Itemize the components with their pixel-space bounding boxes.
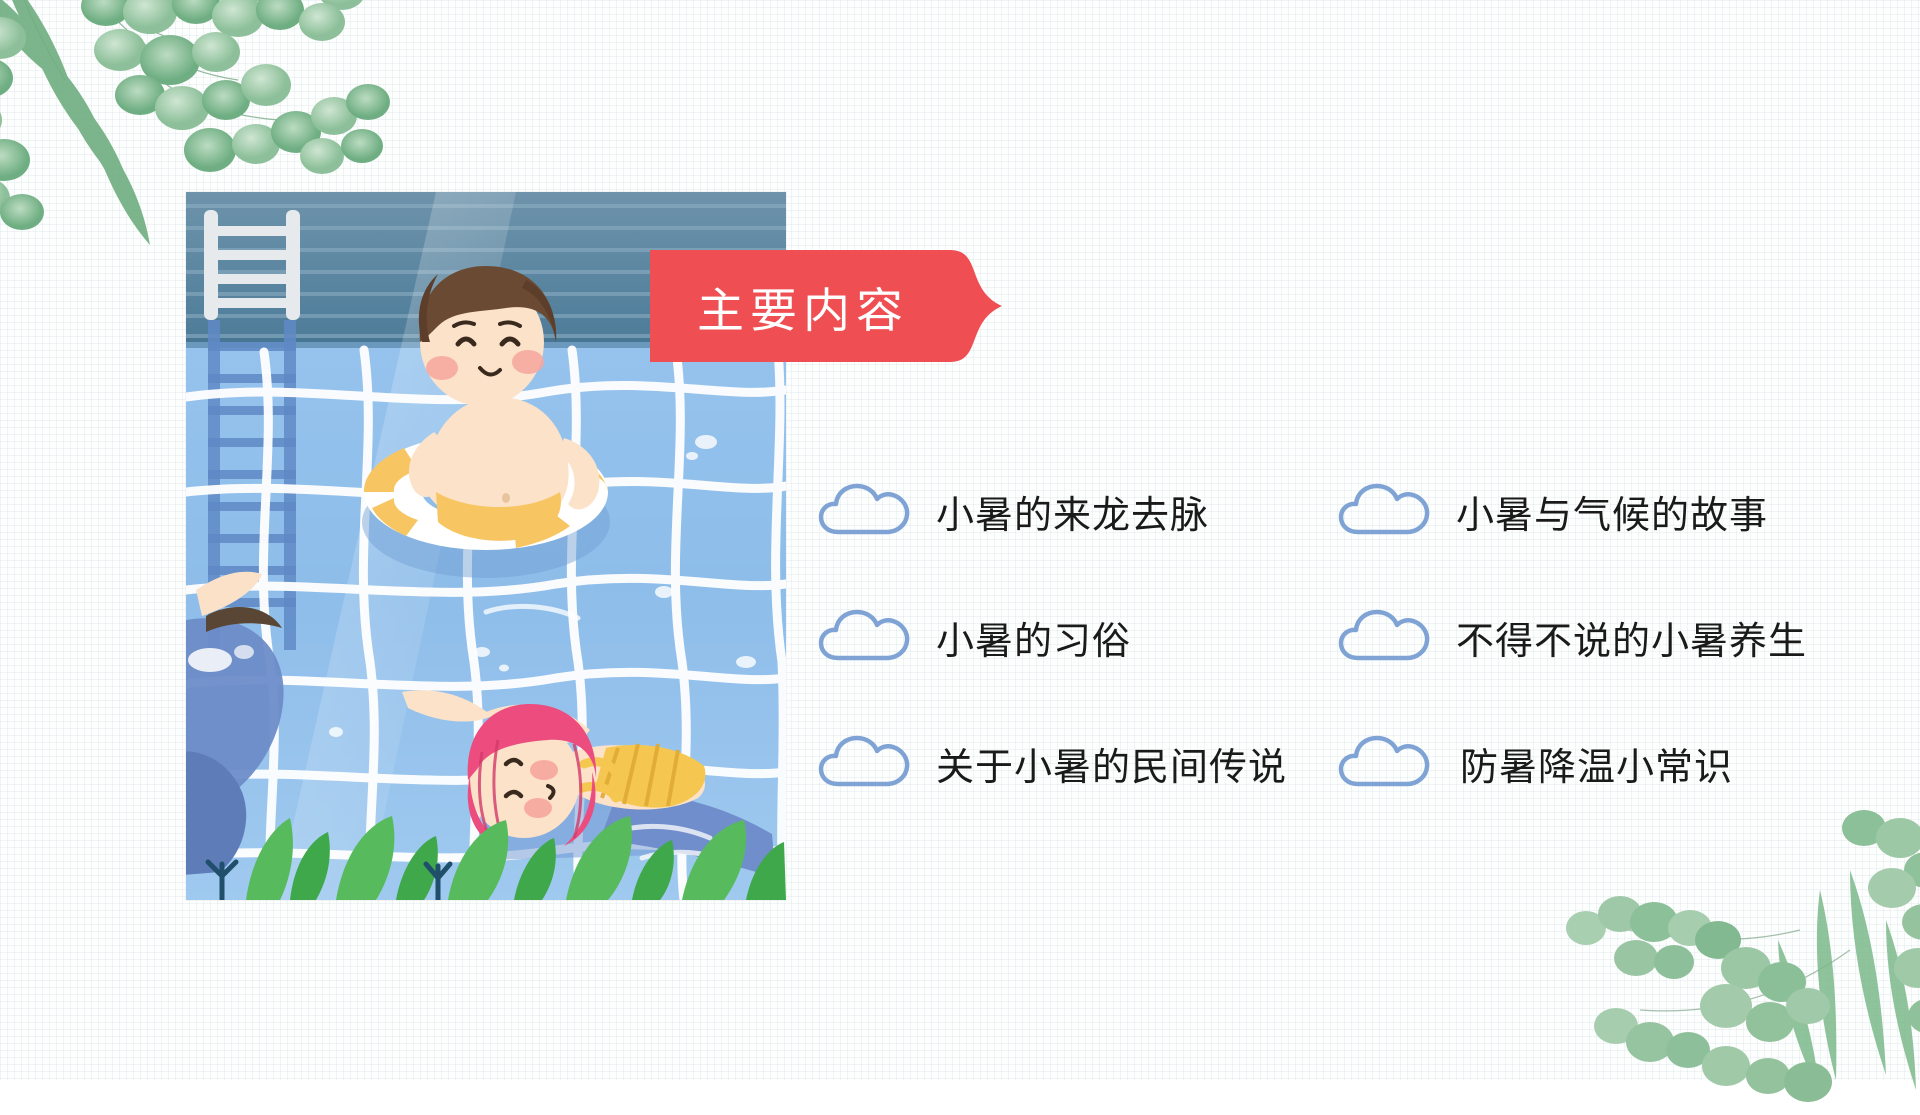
slide-canvas: 主要内容 小暑的来龙去脉 小暑与气候的故事 bbox=[0, 0, 1920, 1080]
list-item-label: 小暑与气候的故事 bbox=[1456, 484, 1768, 539]
content-row: 小暑的来龙去脉 小暑与气候的故事 bbox=[818, 448, 1858, 574]
cloud-icon bbox=[1338, 482, 1434, 540]
content-list: 小暑的来龙去脉 小暑与气候的故事 小暑的习俗 bbox=[818, 448, 1858, 828]
list-item-label: 关于小暑的民间传说 bbox=[936, 736, 1287, 791]
list-item-1[interactable]: 小暑的来龙去脉 bbox=[818, 482, 1338, 540]
cloud-icon bbox=[1338, 734, 1434, 792]
section-title-banner: 主要内容 bbox=[650, 250, 1010, 362]
list-item-4[interactable]: 不得不说的小暑养生 bbox=[1338, 608, 1858, 666]
content-row: 小暑的习俗 不得不说的小暑养生 bbox=[818, 574, 1858, 700]
page-title: 主要内容 bbox=[650, 250, 950, 362]
list-item-5[interactable]: 关于小暑的民间传说 bbox=[818, 734, 1338, 792]
list-item-label: 防暑降温小常识 bbox=[1460, 736, 1733, 791]
list-item-label: 不得不说的小暑养生 bbox=[1456, 610, 1807, 665]
list-item-label: 小暑的来龙去脉 bbox=[936, 484, 1209, 539]
list-item-3[interactable]: 小暑的习俗 bbox=[818, 608, 1338, 666]
leaf-decoration-bottom-right bbox=[1520, 810, 1920, 1110]
cloud-icon bbox=[818, 734, 914, 792]
list-item-6[interactable]: 防暑降温小常识 bbox=[1338, 734, 1858, 792]
list-item-label: 小暑的习俗 bbox=[936, 610, 1131, 665]
cloud-icon bbox=[1338, 608, 1434, 666]
list-item-2[interactable]: 小暑与气候的故事 bbox=[1338, 482, 1858, 540]
cloud-icon bbox=[818, 608, 914, 666]
content-row: 关于小暑的民间传说 防暑降温小常识 bbox=[818, 700, 1858, 826]
cloud-icon bbox=[818, 482, 914, 540]
